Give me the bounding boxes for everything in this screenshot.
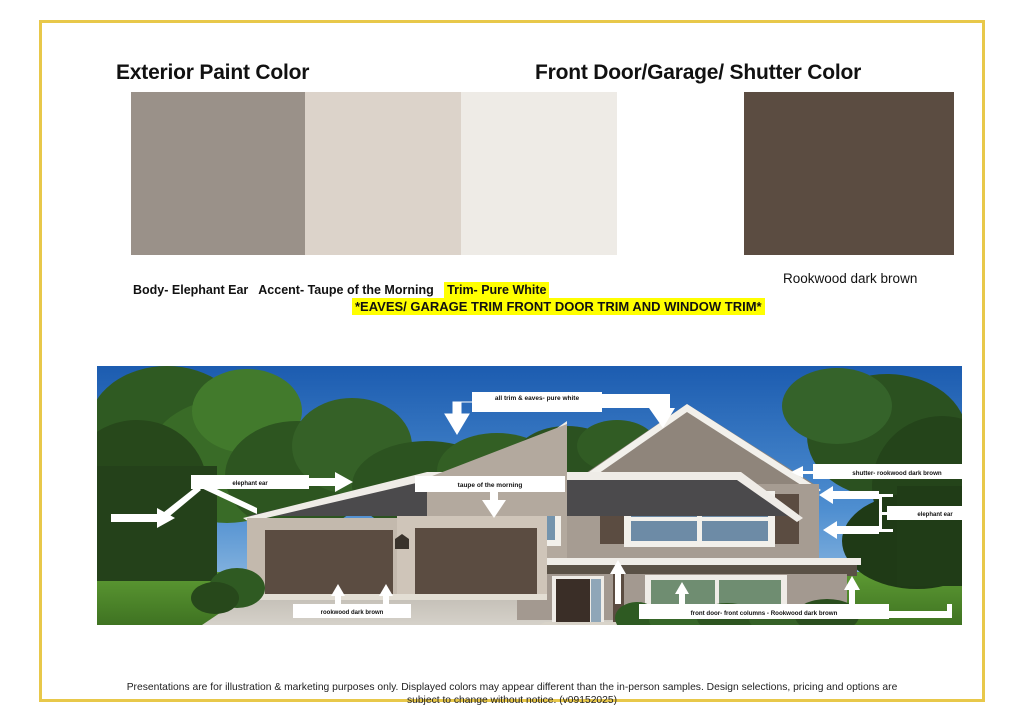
annotation-front-door-label: front door- front columns - Rookwood dar… [691,610,838,617]
disclaimer-text: Presentations are for illustration & mar… [112,681,912,707]
caption-door-label: Rookwood dark brown [783,271,917,286]
caption-eaves-note: *EAVES/ GARAGE TRIM FRONT DOOR TRIM AND … [352,298,765,315]
annotation-elephant-ear-right-label: elephant ear [917,512,953,518]
house-rendering-svg: all trim & eaves- pure white taupe of th… [97,366,962,625]
exterior-paint-color-heading: Exterior Paint Color [116,61,309,85]
swatch-accent-taupe-of-the-morning [305,92,461,255]
paint-caption-line: Body- Elephant Ear Accent- Taupe of the … [133,283,549,297]
annotation-trim-eaves-line1: all trim & eaves- pure white [495,395,580,402]
annotation-shutter: shutter- rookwood dark brown [791,464,962,479]
house-rendering-image: all trim & eaves- pure white taupe of th… [97,366,962,625]
front-door-garage-shutter-color-heading: Front Door/Garage/ Shutter Color [535,61,861,85]
annotation-shutter-label: shutter- rookwood dark brown [852,470,942,477]
exterior-paint-swatch-group [131,92,617,255]
caption-accent-label: Accent- Taupe of the Morning [258,283,433,297]
garage-door-left [265,530,393,596]
annotation-garage-label: rookwood dark brown [321,610,384,616]
swatch-body-elephant-ear [131,92,305,255]
garage-apron [247,594,547,600]
garage-door-right [415,528,537,596]
disclaimer-line-1: Presentations are for illustration & mar… [127,682,844,693]
corner-shrub-2 [191,582,239,614]
swatch-trim-pure-white [461,92,617,255]
annotation-taupe-label: taupe of the morning [458,482,523,489]
swatch-door-rookwood-dark-brown [744,92,954,255]
porch-steps [539,622,625,625]
caption-body-label: Body- Elephant Ear [133,283,248,297]
annotation-elephant-ear-left-label: elephant ear [232,481,268,487]
caption-trim-label: Trim- Pure White [444,282,549,298]
front-door [552,576,604,622]
